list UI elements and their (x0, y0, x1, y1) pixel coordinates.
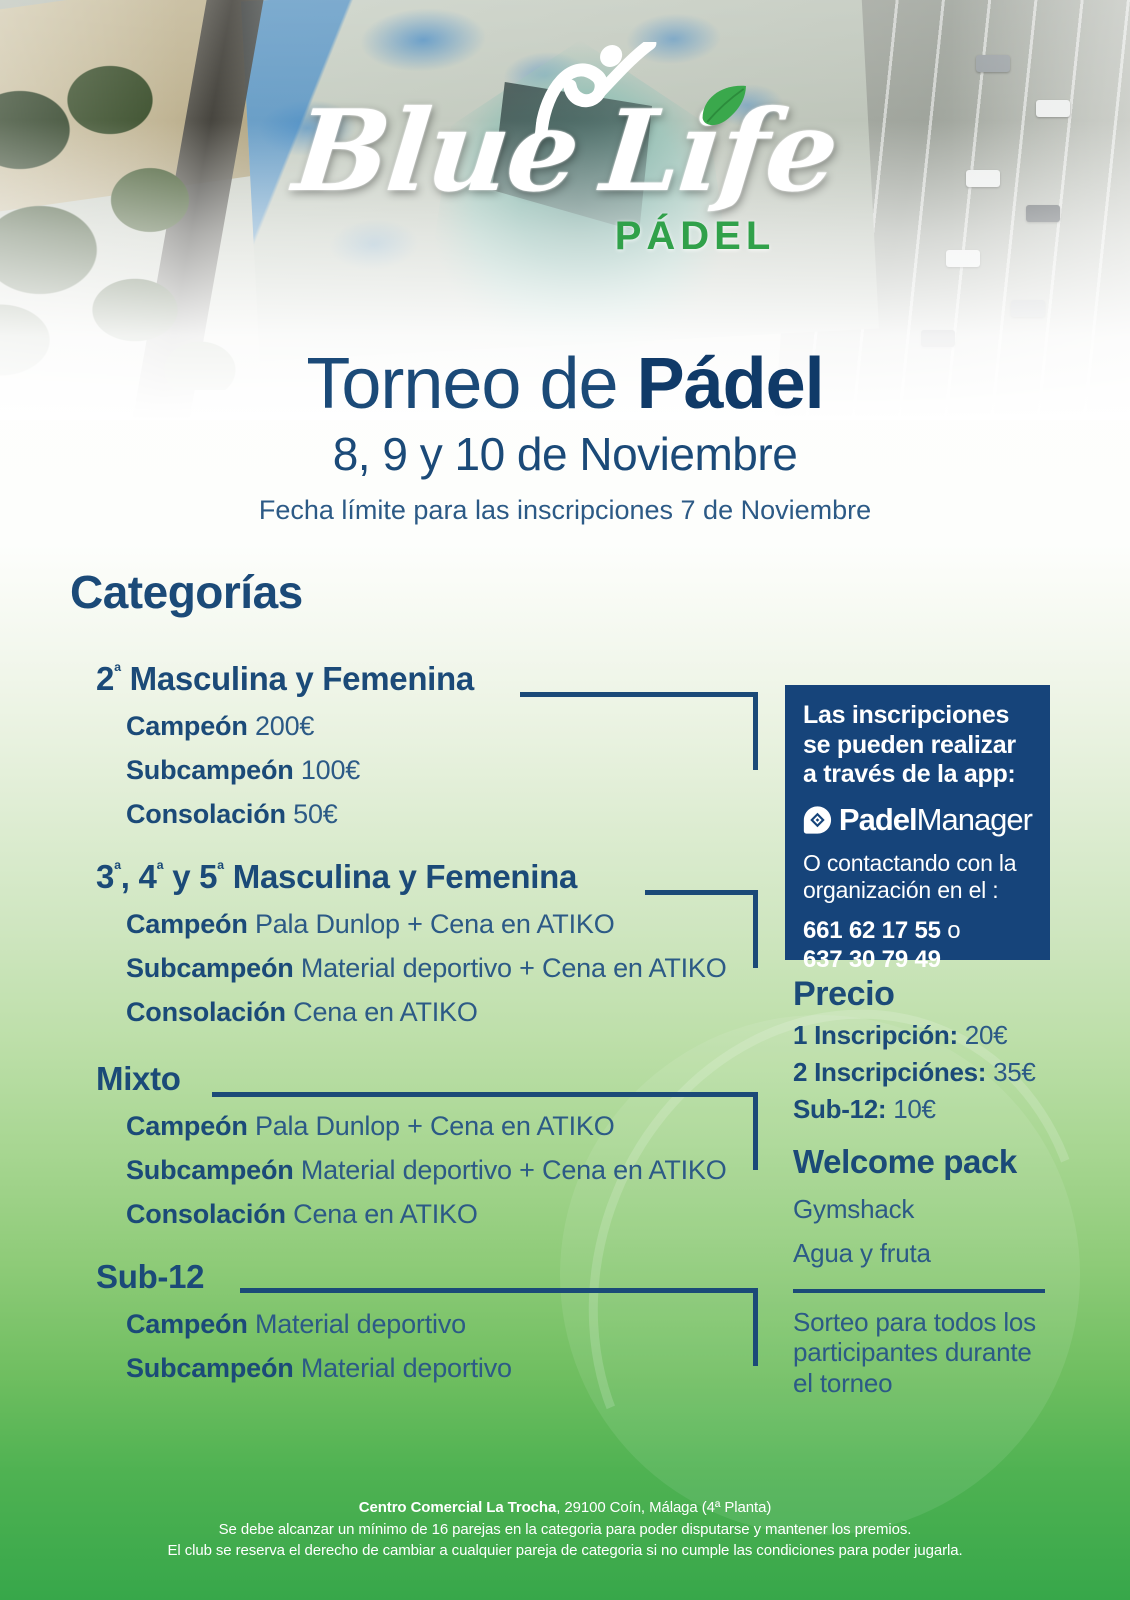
category-title: 3ª, 4ª y 5ª Masculina y Femenina (96, 858, 727, 896)
phone-number-2[interactable]: 637 30 79 49 (803, 945, 1032, 974)
prize-value: Material deportivo (255, 1309, 466, 1339)
prize-row: Campeón Pala Dunlop + Cena en ATIKO (126, 1111, 727, 1142)
prize-row: Consolación Cena en ATIKO (126, 1199, 727, 1230)
title-light: Torneo de (306, 344, 636, 424)
prize-value: 50€ (293, 799, 337, 829)
categories-heading: Categorías (70, 565, 303, 619)
price-value: 35€ (993, 1057, 1035, 1087)
prize-value: Material deportivo + Cena en ATIKO (301, 953, 727, 983)
price-label: Sub-12: (793, 1094, 886, 1124)
prize-value: Cena en ATIKO (293, 997, 478, 1027)
prize-row: Subcampeón 100€ (126, 755, 474, 786)
prize-row: Subcampeón Material deportivo + Cena en … (126, 1155, 727, 1186)
prize-value: 200€ (255, 711, 314, 741)
prize-label: Campeón (126, 909, 248, 939)
prize-label: Campeón (126, 711, 248, 741)
price-label: 2 Inscripciónes: (793, 1057, 986, 1087)
footer: Centro Comercial La Trocha, 29100 Coín, … (0, 1497, 1130, 1562)
prize-label: Campeón (126, 1309, 248, 1339)
category-block: 3ª, 4ª y 5ª Masculina y Femenina Campeón… (96, 858, 727, 1028)
prize-value: Material deportivo (301, 1353, 512, 1383)
page-title: Torneo de Pádel (0, 348, 1130, 421)
signup-headline: Las inscripciones se pueden realizar a t… (803, 701, 1032, 790)
price-row: 2 Inscripciónes: 35€ (793, 1057, 1055, 1088)
venue-name: Centro Comercial La Trocha (359, 1499, 556, 1516)
phone-separator: o (941, 917, 961, 944)
title-bold: Pádel (637, 344, 824, 424)
prize-row: Consolación Cena en ATIKO (126, 997, 727, 1028)
welcome-pack-item: Gymshack (793, 1194, 1055, 1225)
category-block: 2ª Masculina y Femenina Campeón 200€ Sub… (96, 660, 474, 830)
prize-value: Pala Dunlop + Cena en ATIKO (255, 1111, 615, 1141)
price-label: 1 Inscripción: (793, 1020, 958, 1050)
registration-deadline: Fecha límite para las inscripciones 7 de… (0, 495, 1130, 526)
category-title: Mixto (96, 1060, 727, 1098)
leaf-icon (697, 84, 748, 128)
signup-info-box: Las inscripciones se pueden realizar a t… (785, 685, 1050, 960)
prize-value: Pala Dunlop + Cena en ATIKO (255, 909, 615, 939)
footer-condition-2: El club se reserva el derecho de cambiar… (0, 1540, 1130, 1562)
prize-row: Subcampeón Material deportivo + Cena en … (126, 953, 727, 984)
price-value: 20€ (965, 1020, 1007, 1050)
footer-condition-1: Se debe alcanzar un mínimo de 16 parejas… (0, 1519, 1130, 1541)
prize-value: 100€ (301, 755, 360, 785)
phone-row[interactable]: 661 62 17 55 o (803, 916, 1032, 945)
category-title: Sub-12 (96, 1258, 512, 1296)
event-dates: 8, 9 y 10 de Noviembre (0, 427, 1130, 481)
person-swoosh-icon (534, 42, 664, 138)
prize-label: Subcampeón (126, 755, 294, 785)
logo-script-text: BlueLife (289, 96, 841, 208)
prize-label: Campeón (126, 1111, 248, 1141)
prize-label: Consolación (126, 997, 286, 1027)
category-block: Sub-12 Campeón Material deportivo Subcam… (96, 1258, 512, 1384)
contact-phones: 661 62 17 55 o 637 30 79 49 (803, 916, 1032, 975)
section-divider (793, 1289, 1045, 1293)
padelmanager-brand[interactable]: PadelManager (803, 802, 1032, 838)
prize-row: Subcampeón Material deportivo (126, 1353, 512, 1384)
price-row: Sub-12: 10€ (793, 1094, 1055, 1125)
prize-label: Consolación (126, 799, 286, 829)
category-block: Mixto Campeón Pala Dunlop + Cena en ATIK… (96, 1060, 727, 1230)
footer-venue: Centro Comercial La Trocha, 29100 Coín, … (0, 1497, 1130, 1519)
prize-row: Campeón 200€ (126, 711, 474, 742)
padelmanager-name: PadelManager (839, 802, 1032, 838)
brand-logo: BlueLife PÁDEL (0, 96, 1130, 259)
price-heading: Precio (793, 975, 1055, 1014)
prize-label: Subcampeón (126, 1353, 294, 1383)
welcome-pack-item: Agua y fruta (793, 1238, 1055, 1269)
prize-row: Consolación 50€ (126, 799, 474, 830)
phone-number-1: 661 62 17 55 (803, 917, 941, 944)
prize-row: Campeón Pala Dunlop + Cena en ATIKO (126, 909, 727, 940)
title-group: Torneo de Pádel 8, 9 y 10 de Noviembre F… (0, 348, 1130, 526)
raffle-note: Sorteo para todos los participantes dura… (793, 1307, 1055, 1398)
prize-label: Subcampeón (126, 953, 294, 983)
contact-intro: O contactando con la organización en el … (803, 850, 1032, 904)
prize-value: Material deportivo + Cena en ATIKO (301, 1155, 727, 1185)
brand-light: Manager (917, 802, 1032, 837)
prize-row: Campeón Material deportivo (126, 1309, 512, 1340)
prize-label: Subcampeón (126, 1155, 294, 1185)
venue-address: , 29100 Coín, Málaga (4ª Planta) (556, 1499, 771, 1516)
price-value: 10€ (893, 1094, 935, 1124)
tournament-poster: BlueLife PÁDEL Torneo de Pádel 8, 9 y 10… (0, 0, 1130, 1600)
brand-bold: Padel (839, 802, 917, 837)
padelmanager-logo-icon (803, 803, 832, 837)
prize-label: Consolación (126, 1199, 286, 1229)
price-row: 1 Inscripción: 20€ (793, 1020, 1055, 1051)
welcome-pack-heading: Welcome pack (793, 1143, 1055, 1181)
prize-value: Cena en ATIKO (293, 1199, 478, 1229)
bracket-connector (520, 692, 758, 770)
logo-padel-word: PÁDEL (260, 214, 1130, 259)
right-info-column: Precio 1 Inscripción: 20€ 2 Inscripcióne… (793, 975, 1055, 1398)
category-title: 2ª Masculina y Femenina (96, 660, 474, 698)
